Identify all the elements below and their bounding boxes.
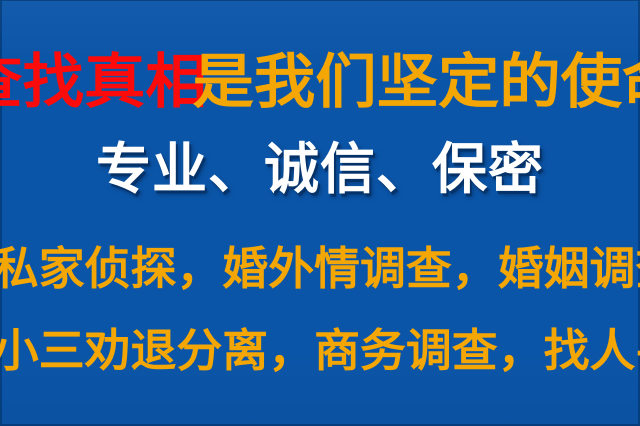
services-line-2-text: 小三劝退分离，商务调查，找人寻人 [0,328,640,373]
slogan-text: 专业、诚信、保密 [96,142,544,197]
services-line-1: 私家侦探，婚外情调查，婚姻调查， [0,246,640,291]
services-line-2: 小三劝退分离，商务调查，找人寻人 [0,328,640,373]
services-line-1-text: 私家侦探，婚外情调查，婚姻调查， [0,246,640,291]
banner-text-block: 查找真相是我们坚定的使命 专业、诚信、保密 私家侦探，婚外情调查，婚姻调查， 小… [0,0,640,426]
advertisement-banner: 查找真相是我们坚定的使命 专业、诚信、保密 私家侦探，婚外情调查，婚姻调查， 小… [0,0,640,426]
headline-main-text: 是我们坚定的使命 [193,52,640,111]
slogan-line: 专业、诚信、保密 [0,142,640,197]
headline-accent-text: 查找真相 [0,52,207,111]
headline-line: 查找真相是我们坚定的使命 [0,52,640,111]
